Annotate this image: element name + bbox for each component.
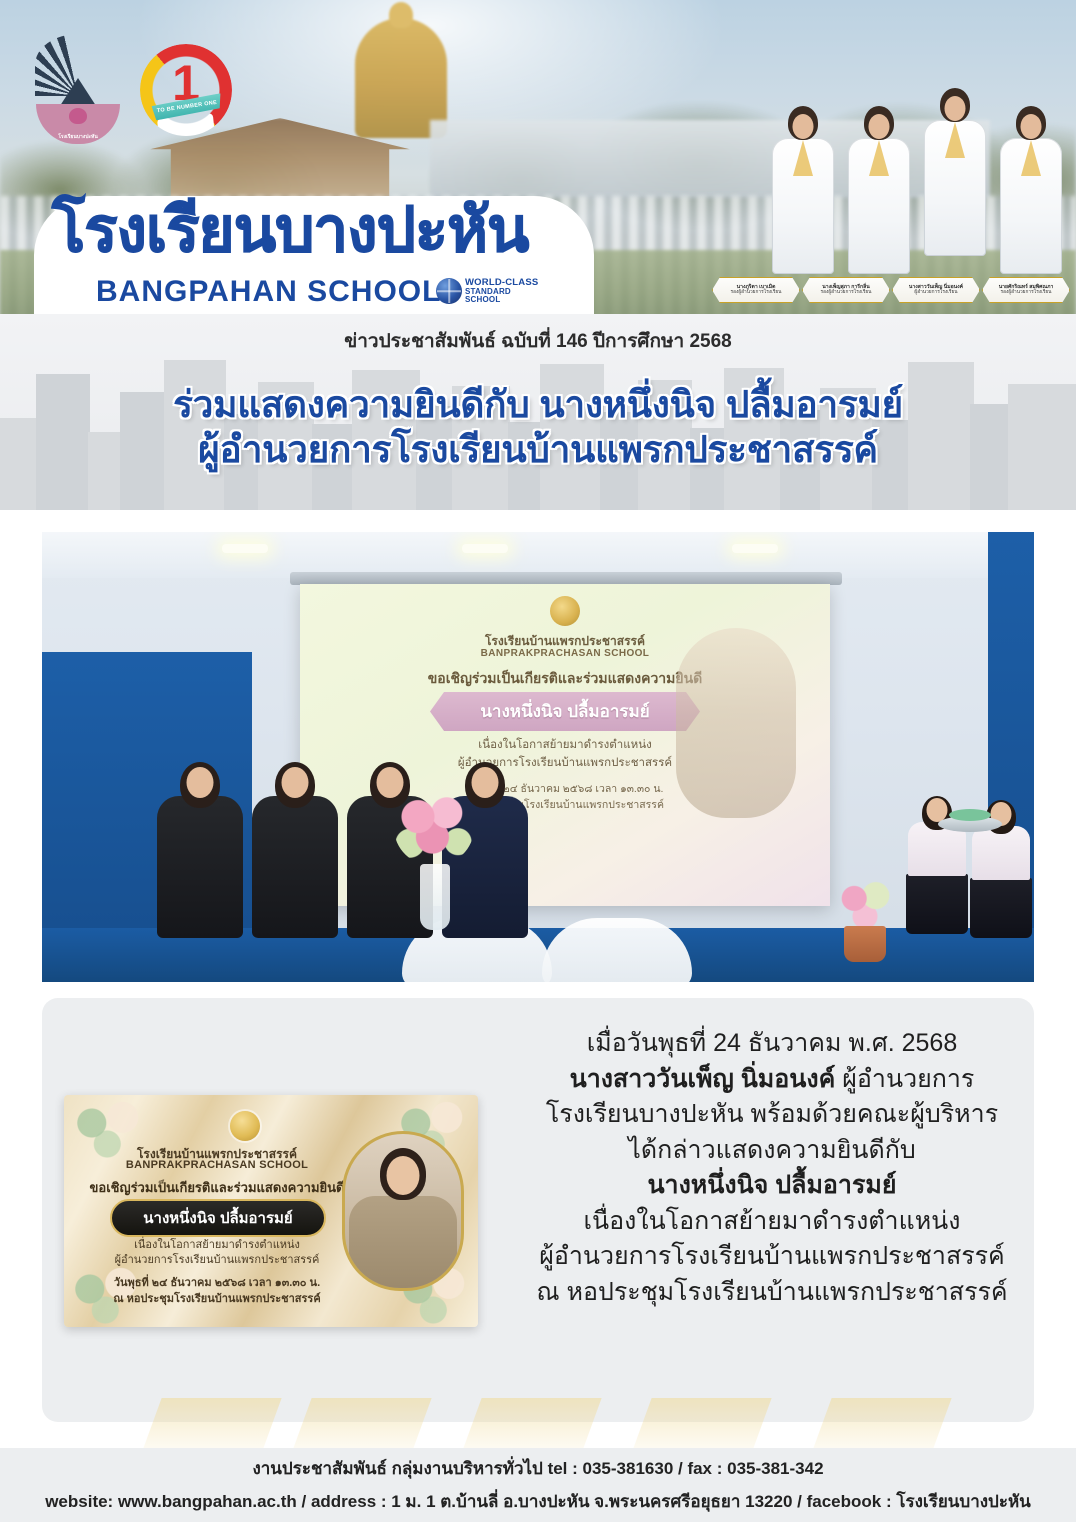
card-portrait-photo	[342, 1131, 464, 1291]
screen-honoree-name: นางหนึ่งนิจ ปลื้มอารมย์	[480, 702, 649, 721]
official-name-ribbons: นางภูริตา เบาเมิด รองผู้อำนวยการโรงเรียน…	[712, 277, 1070, 303]
card-honoree-pill: นางหนึ่งนิจ ปลื้มอารมย์	[110, 1199, 326, 1237]
body-director-name: นางสาววันเพ็ญ นิ่มอนงค์	[570, 1065, 836, 1093]
body-line-3: โรงเรียนบางปะหัน พร้อมด้วยคณะผู้บริหาร	[508, 1097, 1036, 1133]
body-honoree-name: นางหนึ่งนิจ ปลื้มอารมย์	[508, 1168, 1036, 1204]
official-role-3: ผู้อำนวยการโรงเรียน	[914, 290, 957, 295]
body-director-title: ผู้อำนวยการ	[835, 1065, 974, 1093]
official-figure-4	[994, 106, 1068, 274]
globe-icon	[436, 278, 462, 304]
flower-bouquet	[394, 790, 474, 866]
body-line-4: ได้กล่าวแสดงความยินดีกับ	[508, 1133, 1036, 1169]
card-venue-line: ณ หอประชุมโรงเรียนบ้านแพรกประชาสรรค์	[72, 1289, 362, 1307]
headline: ร่วมแสดงความยินดีกับ นางหนึ่งนิจ ปลื้มอา…	[0, 382, 1076, 472]
main-event-photo: โรงเรียนบ้านแพรกประชาสรรค์ BANPRAKPRACHA…	[42, 532, 1034, 982]
officials-photo-group	[756, 74, 1076, 274]
card-invite-line: ขอเชิญร่วมเป็นเกียรติและร่วมแสดงความยินด…	[72, 1177, 362, 1198]
official-ribbon-4: นายศักริณทร์ สมพิศณภา รองผู้อำนวยการโรงเ…	[982, 277, 1070, 303]
official-figure-1	[766, 106, 840, 274]
screen-honoree-pill: นางหนึ่งนิจ ปลื้มอารมย์	[430, 692, 700, 731]
footer-address-line: website: www.bangpahan.ac.th / address :…	[45, 1488, 1031, 1515]
headline-line-2: ผู้อำนวยการโรงเรียนบ้านแพรกประชาสรรค์	[0, 427, 1076, 472]
invitation-card-image: โรงเรียนบ้านแพรกประชาสรรค์ BANPRAKPRACHA…	[64, 1095, 478, 1327]
official-ribbon-2: นางเพ็ญสุภา การีกลิ่น รองผู้อำนวยการโรงเ…	[802, 277, 890, 303]
crest-lotus-icon	[69, 108, 87, 124]
school-name-en: BANGPAHAN SCHOOL	[96, 275, 441, 309]
headline-line-1: ร่วมแสดงความยินดีกับ นางหนึ่งนิจ ปลื้มอา…	[0, 382, 1076, 427]
potted-plant	[838, 876, 892, 962]
body-line-8: ณ หอประชุมโรงเรียนบ้านแพรกประชาสรรค์	[508, 1275, 1036, 1311]
screen-portrait-photo	[676, 628, 796, 818]
official-ribbon-1: นางภูริตา เบาเมิด รองผู้อำนวยการโรงเรียน	[712, 277, 800, 303]
body-line-6: เนื่องในโอกาสย้ายมาดำรงตำแหน่ง	[508, 1204, 1036, 1240]
ceremonial-tray	[938, 816, 1002, 832]
official-role-1: รองผู้อำนวยการโรงเรียน	[731, 290, 782, 295]
footer: งานประชาสัมพันธ์ กลุ่มงานบริหารทั่วไป te…	[0, 1448, 1076, 1522]
body-line-7: ผู้อำนวยการโรงเรียนบ้านแพรกประชาสรรค์	[508, 1239, 1036, 1275]
crest-ribbon-text: โรงเรียนบางปะหัน	[58, 133, 98, 141]
screen-seal-icon	[550, 596, 580, 626]
wcss-line2: STANDARD SCHOOL	[465, 288, 540, 304]
ceiling-light-2	[462, 544, 508, 553]
card-seal-icon	[230, 1111, 260, 1141]
school-crest-logo: โรงเรียนบางปะหัน	[30, 34, 126, 146]
body-line-1: เมื่อวันพุธที่ 24 ธันวาคม พ.ศ. 2568	[508, 1026, 1036, 1062]
footer-contact-line: งานประชาสัมพันธ์ กลุ่มงานบริหารทั่วไป te…	[252, 1455, 823, 1482]
official-ribbon-3: นางสาววันเพ็ญ นิ่มอนงค์ ผู้อำนวยการโรงเร…	[892, 277, 980, 303]
official-figure-2	[842, 106, 916, 274]
ceiling-light-3	[732, 544, 778, 553]
official-figure-3	[918, 88, 992, 274]
official-role-4: รองผู้อำนวยการโรงเรียน	[1001, 290, 1052, 295]
to-be-number-one-logo: 1 TO BE NUMBER ONE	[140, 44, 232, 136]
card-position-line: ผู้อำนวยการโรงเรียนบ้านแพรกประชาสรรค์	[72, 1250, 362, 1268]
ceiling-light-1	[222, 544, 268, 553]
card-honoree-name: นางหนึ่งนิจ ปลื้มอารมย์	[143, 1210, 292, 1227]
poster-root: นางภูริตา เบาเมิด รองผู้อำนวยการโรงเรียน…	[0, 0, 1076, 1522]
card-school-en: BANPRAKPRACHASAN SCHOOL	[72, 1159, 362, 1171]
bouquet-vase	[420, 864, 450, 930]
body-line-2: นางสาววันเพ็ญ นิ่มอนงค์ ผู้อำนวยการ	[508, 1062, 1036, 1098]
world-class-standard-school-logo: WORLD-CLASS STANDARD SCHOOL	[436, 276, 540, 306]
article-body-text: เมื่อวันพุธที่ 24 ธันวาคม พ.ศ. 2568 นางส…	[508, 1026, 1036, 1310]
school-name-th: โรงเรียนบางปะหัน	[52, 200, 528, 262]
edition-line: ข่าวประชาสัมพันธ์ ฉบับที่ 146 ปีการศึกษา…	[0, 326, 1076, 356]
official-role-2: รองผู้อำนวยการโรงเรียน	[821, 290, 872, 295]
